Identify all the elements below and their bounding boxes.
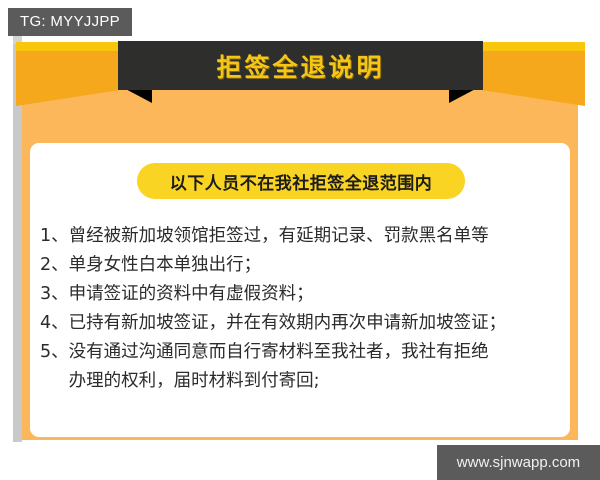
ribbon-tail-right-cap xyxy=(481,42,585,51)
list-item: 5、 没有通过沟通同意而自行寄材料至我社者，我社有拒绝 办理的权利，届时材料到付… xyxy=(40,338,565,396)
poster-root: 拒签全退说明 以下人员不在我社拒签全退范围内 1、 曾经被新加坡领馆拒签过，有延… xyxy=(0,0,600,480)
ribbon-tail-left-cap xyxy=(16,42,120,51)
list-item-marker: 4、 xyxy=(40,309,69,338)
list-item: 2、 单身女性白本单独出行； xyxy=(40,251,565,280)
list-item-marker: 1、 xyxy=(40,222,69,251)
list-item: 3、 申请签证的资料中有虚假资料； xyxy=(40,280,565,309)
list-item-text: 申请签证的资料中有虚假资料； xyxy=(69,284,314,304)
site-watermark: www.sjnwapp.com xyxy=(437,445,600,480)
list-item-marker: 2、 xyxy=(40,251,69,280)
exclusion-list: 1、 曾经被新加坡领馆拒签过，有延期记录、罚款黑名单等 2、 单身女性白本单独出… xyxy=(40,222,565,396)
subtitle-pill: 以下人员不在我社拒签全退范围内 xyxy=(137,163,465,199)
list-item-text: 已持有新加坡签证，并在有效期内再次申请新加坡签证； xyxy=(69,313,507,333)
list-item-text-continued: 办理的权利，届时材料到付寄回; xyxy=(69,367,565,396)
list-item: 4、 已持有新加坡签证，并在有效期内再次申请新加坡签证； xyxy=(40,309,565,338)
list-item-text: 没有通过沟通同意而自行寄材料至我社者，我社有拒绝 xyxy=(69,342,489,362)
page-title: 拒签全退说明 xyxy=(118,41,483,90)
list-item-text: 单身女性白本单独出行； xyxy=(69,255,262,275)
list-item-text: 曾经被新加坡领馆拒签过，有延期记录、罚款黑名单等 xyxy=(69,226,489,246)
list-item-marker: 3、 xyxy=(40,280,69,309)
list-item: 1、 曾经被新加坡领馆拒签过，有延期记录、罚款黑名单等 xyxy=(40,222,565,251)
tg-handle-badge: TG: MYYJJPP xyxy=(8,8,132,36)
list-item-marker: 5、 xyxy=(40,338,69,367)
